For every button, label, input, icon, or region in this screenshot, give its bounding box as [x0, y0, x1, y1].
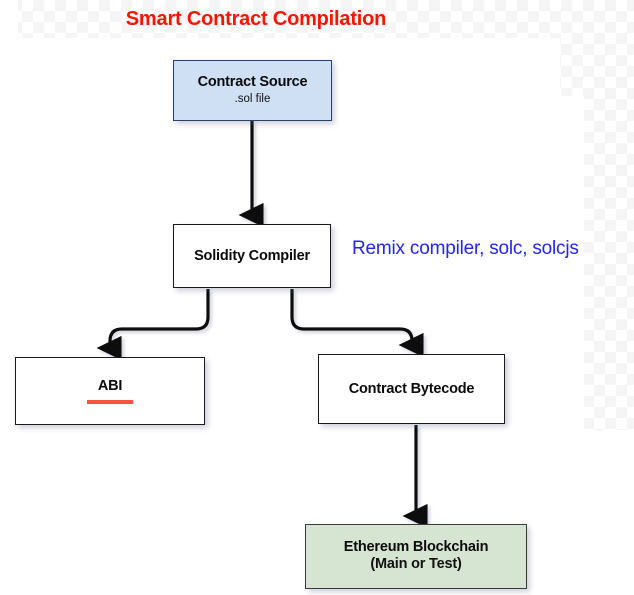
- abi-underline-bar: [87, 400, 133, 404]
- node-title: Contract Bytecode: [349, 381, 475, 398]
- diagram-canvas: Smart Contract Compilation Contract Sour…: [0, 0, 634, 595]
- node-contract-bytecode[interactable]: Contract Bytecode: [318, 354, 505, 424]
- node-title: Solidity Compiler: [194, 248, 310, 265]
- node-title: Ethereum Blockchain: [344, 539, 488, 556]
- node-abi[interactable]: ABI: [15, 357, 205, 425]
- node-solidity-compiler[interactable]: Solidity Compiler: [173, 224, 331, 288]
- node-contract-source[interactable]: Contract Source .sol file: [173, 60, 332, 121]
- node-title: ABI: [98, 378, 122, 395]
- compiler-annotation: Remix compiler, solc, solcjs: [352, 238, 579, 260]
- node-subtitle: .sol file: [235, 93, 271, 107]
- node-ethereum-blockchain[interactable]: Ethereum Blockchain (Main or Test): [305, 524, 527, 589]
- node-title: Contract Source: [198, 74, 308, 91]
- diagram-title: Smart Contract Compilation: [0, 8, 512, 31]
- node-subtitle: (Main or Test): [370, 556, 461, 573]
